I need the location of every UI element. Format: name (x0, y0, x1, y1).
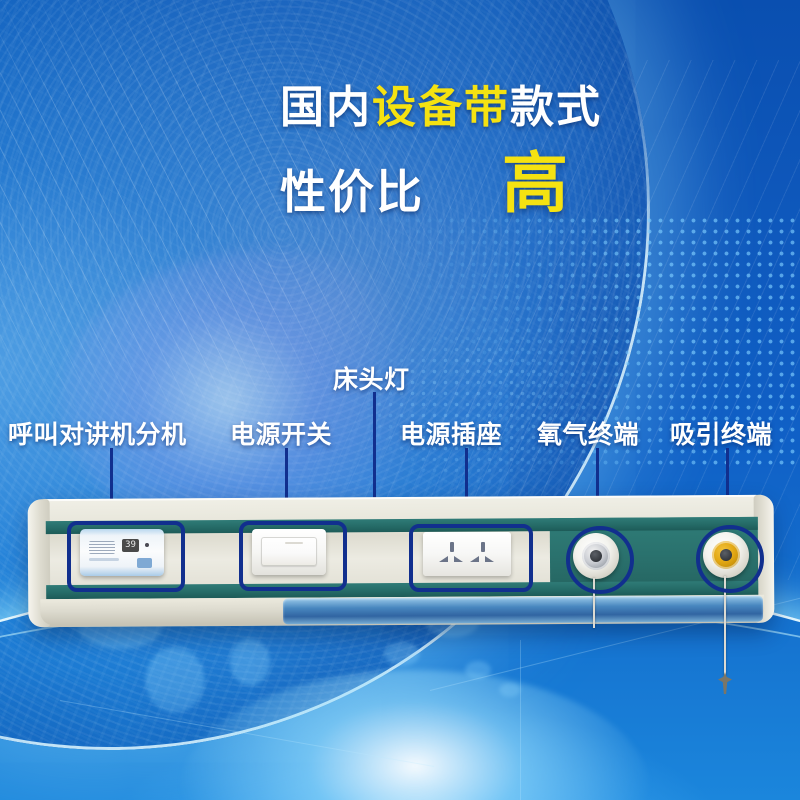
label-power-switch: 电源开关 (230, 415, 332, 451)
headline-block: 国内设备带款式 性价比 高 (280, 86, 780, 215)
headline-text-part2: 款式 (510, 82, 602, 133)
highlight-power-socket (409, 524, 533, 592)
highlight-oxygen (566, 526, 634, 594)
bed-lamp-diffuser[interactable] (283, 596, 763, 625)
label-oxygen: 氧气终端 (537, 415, 639, 451)
headline-subtext: 性价比 (280, 169, 424, 215)
headline-line-1: 国内设备带款式 (280, 86, 780, 130)
headline-text-part1: 国内 (280, 82, 372, 133)
headline-text-accent: 设备带 (372, 82, 510, 133)
label-intercom: 呼叫对讲机分机 (8, 415, 187, 451)
decor-line-3 (520, 640, 521, 800)
promo-banner: 国内设备带款式 性价比 高 呼叫对讲机分机 电源开关 床头灯 电源插座 氧气终端… (0, 0, 800, 800)
label-suction: 吸引终端 (670, 415, 772, 451)
label-bed-lamp: 床头灯 (333, 360, 410, 396)
headline-line-2: 性价比 高 (280, 152, 780, 215)
highlight-suction (696, 525, 764, 593)
highlight-power-switch (239, 521, 347, 591)
highlight-intercom (67, 521, 185, 592)
label-power-socket: 电源插座 (400, 415, 502, 451)
headline-highlight-word: 高 (502, 152, 568, 215)
